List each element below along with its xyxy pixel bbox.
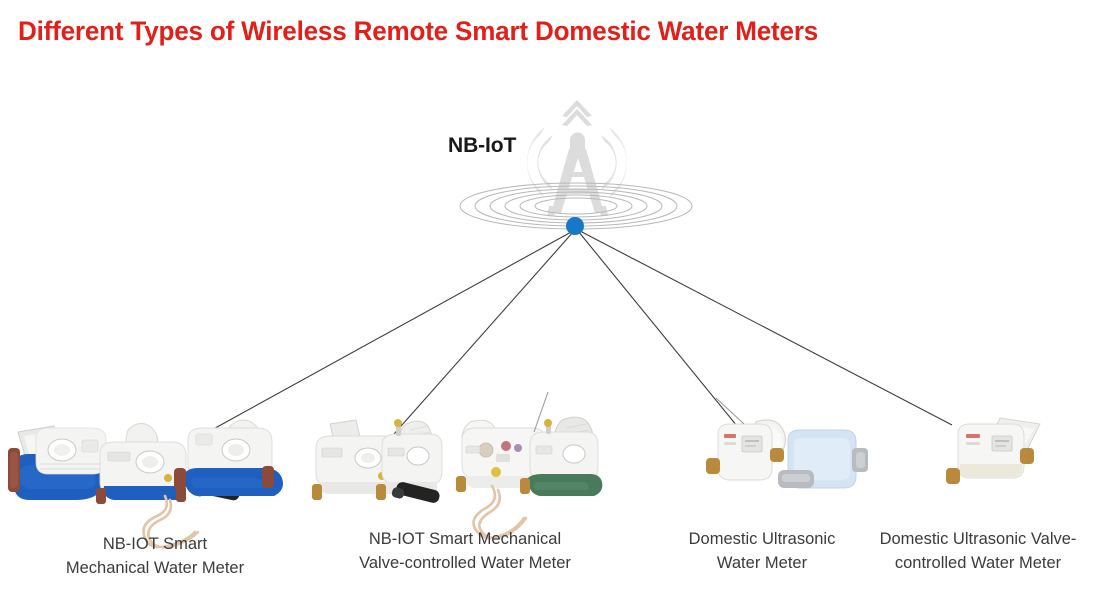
product-image-nbiot-smart-mechanical-valve-controlled-water-meter xyxy=(312,392,602,538)
meter-4a xyxy=(946,418,1040,484)
network-connector-lines xyxy=(188,231,952,443)
meter-1a xyxy=(8,426,106,500)
product-image-domestic-ultrasonic-valve-controlled-water-meter xyxy=(946,418,1040,484)
diagram-canvas xyxy=(0,0,1096,607)
product-caption-domestic-ultrasonic-valve-controlled-water-meter: Domestic Ultrasonic Valve- controlled Wa… xyxy=(866,527,1090,575)
product-caption-nbiot-smart-mechanical-valve-controlled-water-meter: NB-IOT Smart Mechanical Valve-controlled… xyxy=(330,527,600,575)
cell-tower-icon xyxy=(527,100,627,216)
product-image-domestic-ultrasonic-water-meter xyxy=(706,398,868,488)
connector-line-1 xyxy=(188,231,573,443)
connector-line-4 xyxy=(580,231,952,425)
product-caption-nbiot-smart-mechanical-water-meter: NB-IOT Smart Mechanical Water Meter xyxy=(35,532,275,580)
meter-1c xyxy=(174,420,283,496)
meter-3a xyxy=(706,398,786,480)
network-hub-dot xyxy=(566,217,584,235)
connector-line-2 xyxy=(394,231,574,434)
meter-3b xyxy=(778,430,868,488)
product-caption-domestic-ultrasonic-water-meter: Domestic Ultrasonic Water Meter xyxy=(660,527,864,575)
connector-line-3 xyxy=(578,231,746,437)
product-image-nbiot-smart-mechanical-water-meter xyxy=(8,420,283,547)
